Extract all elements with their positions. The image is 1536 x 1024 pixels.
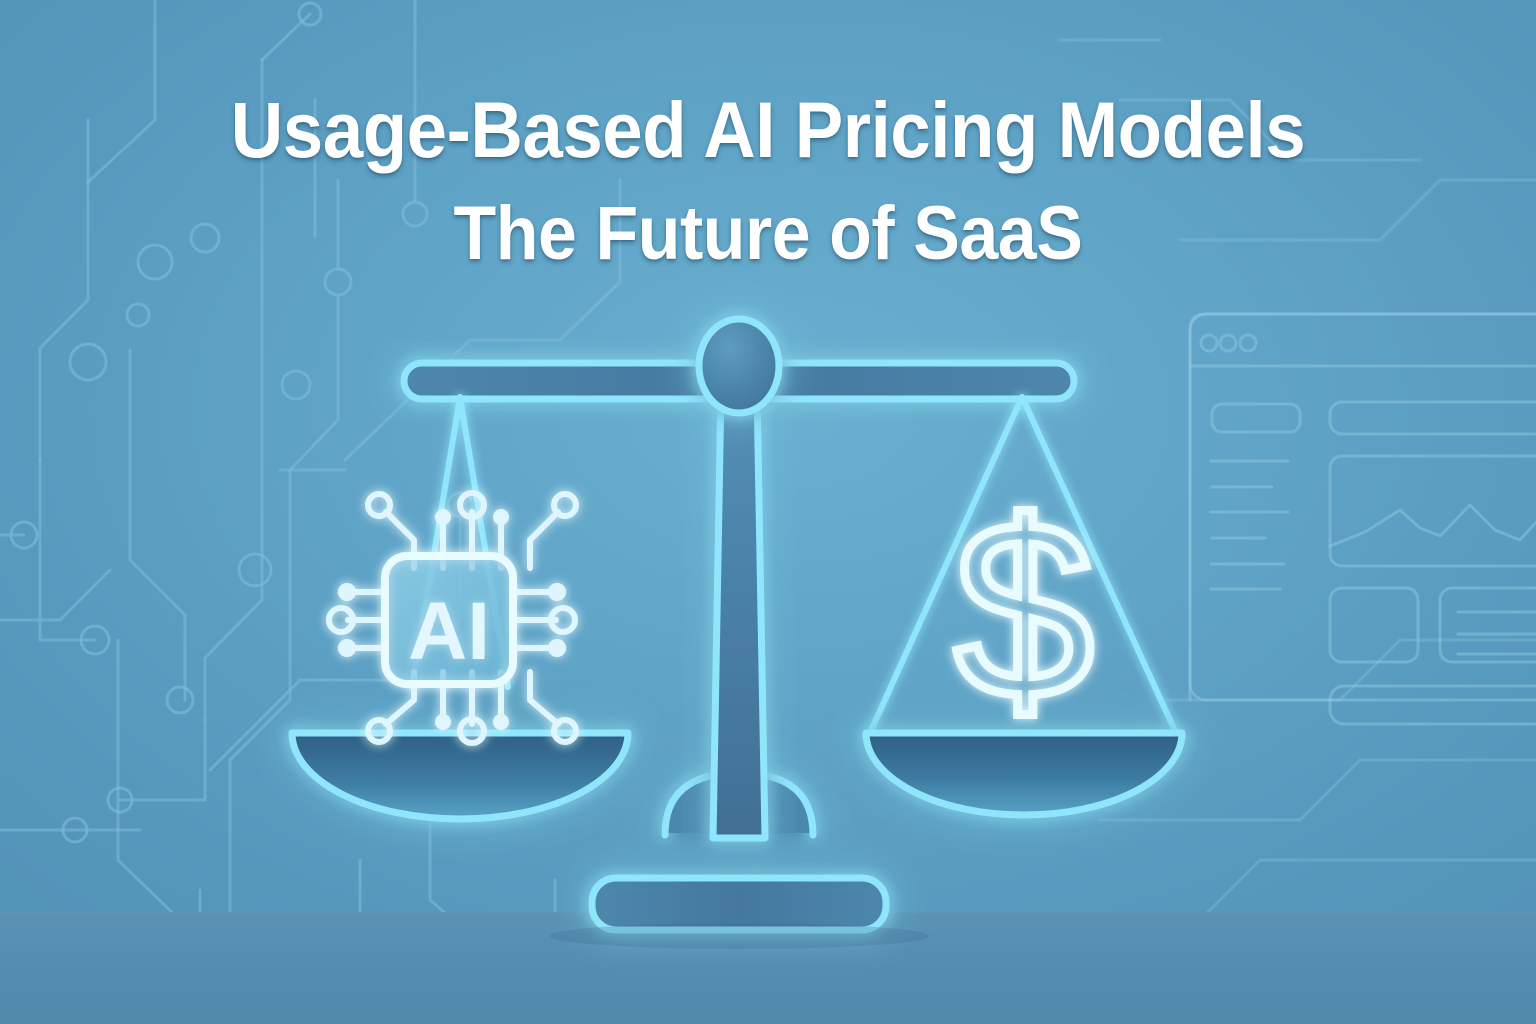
ai-chip-icon: AI (329, 493, 576, 743)
dollar-symbol: $ (954, 470, 1094, 751)
hero-banner: Usage-Based AI Pricing Models The Future… (0, 0, 1536, 1024)
scale-column (713, 390, 765, 838)
base-shadow (549, 923, 929, 949)
title-line-2: The Future of SaaS (61, 182, 1474, 286)
scale-fulcrum (699, 319, 779, 413)
page-title: Usage-Based AI Pricing Models The Future… (0, 78, 1536, 286)
title-line-1: Usage-Based AI Pricing Models (61, 78, 1474, 182)
left-pan (292, 733, 628, 819)
dollar-sign-icon: $ (954, 470, 1094, 751)
chip-label: AI (408, 586, 490, 677)
